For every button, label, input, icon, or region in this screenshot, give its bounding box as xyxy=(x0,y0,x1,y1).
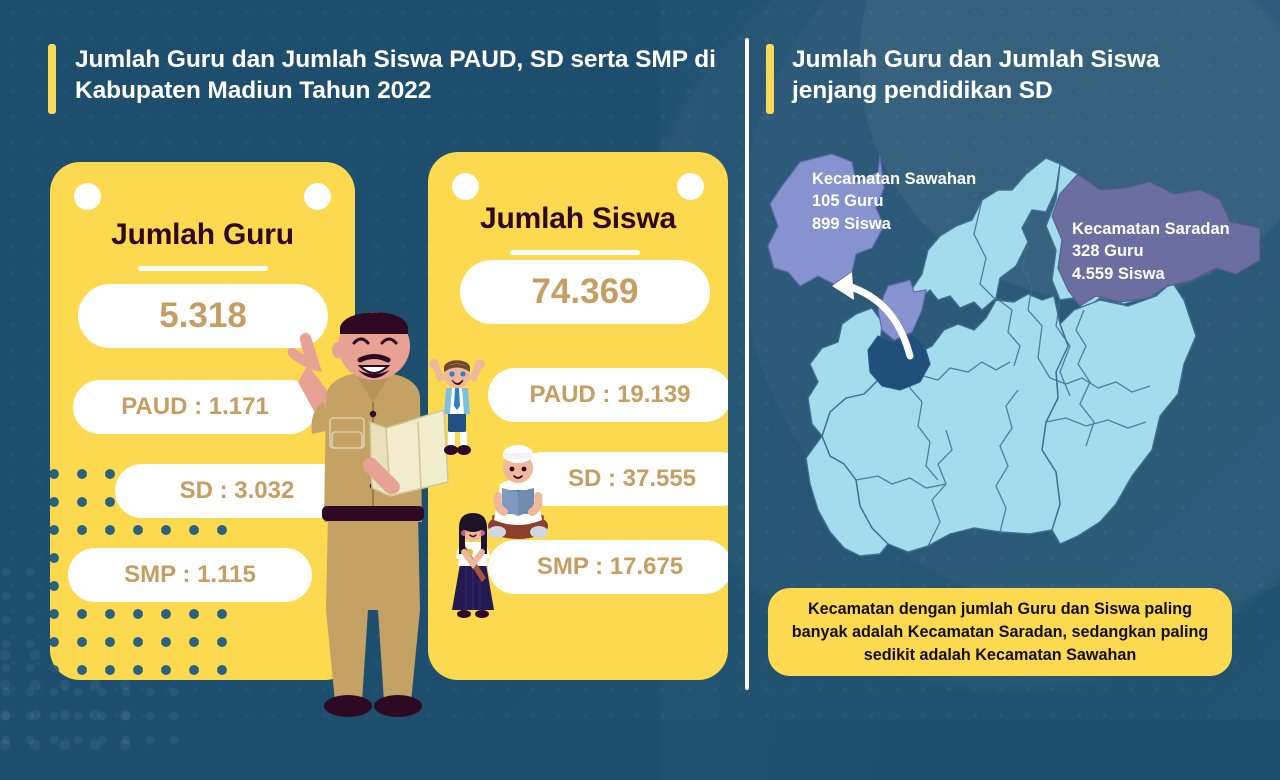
right-panel-title-text: Jumlah Guru dan Jumlah Siswa jenjang pen… xyxy=(792,44,1236,107)
card-siswa-item-smp: SMP : 17.675 xyxy=(488,540,728,594)
student-smp-illustration xyxy=(444,512,502,620)
map-label-saradan-students: 4.559 Siswa xyxy=(1072,263,1230,285)
map-label-sawahan-students: 899 Siswa xyxy=(812,213,976,235)
map-label-saradan-teachers: 328 Guru xyxy=(1072,240,1230,262)
card-hole-left-icon xyxy=(74,183,101,210)
card-guru-title: Jumlah Guru xyxy=(50,218,355,252)
card-siswa-underline xyxy=(510,250,640,255)
map-label-sawahan: Kecamatan Sawahan 105 Guru 899 Siswa xyxy=(812,168,976,235)
card-siswa-total-value: 74.369 xyxy=(460,260,710,324)
student-paud-illustration xyxy=(428,358,486,456)
map-label-saradan: Kecamatan Saradan 328 Guru 4.559 Siswa xyxy=(1072,218,1230,285)
map-arrow-sawahan-icon xyxy=(790,230,930,360)
panel-divider xyxy=(745,38,749,690)
card-hole-right-icon xyxy=(304,183,331,210)
card-hole-right-icon xyxy=(677,173,704,200)
card-siswa-item-paud: PAUD : 19.139 xyxy=(488,368,728,422)
left-panel-title-text: Jumlah Guru dan Jumlah Siswa PAUD, SD se… xyxy=(75,44,728,107)
map-kabupaten-madiun: Kecamatan Sawahan 105 Guru 899 Siswa Kec… xyxy=(760,150,1260,570)
map-label-sawahan-teachers: 105 Guru xyxy=(812,190,976,212)
title-accent-bar xyxy=(766,44,774,114)
card-siswa-title: Jumlah Siswa xyxy=(428,202,728,236)
map-summary-note: Kecamatan dengan jumlah Guru dan Siswa p… xyxy=(768,588,1232,676)
card-hole-left-icon xyxy=(452,173,479,200)
right-panel-title: Jumlah Guru dan Jumlah Siswa jenjang pen… xyxy=(766,44,1236,114)
left-panel-title: Jumlah Guru dan Jumlah Siswa PAUD, SD se… xyxy=(48,44,728,114)
title-accent-bar xyxy=(48,44,56,114)
map-summary-note-text: Kecamatan dengan jumlah Guru dan Siswa p… xyxy=(782,598,1218,667)
map-label-sawahan-name: Kecamatan Sawahan xyxy=(812,168,976,190)
card-guru-underline xyxy=(138,266,268,271)
map-label-saradan-name: Kecamatan Saradan xyxy=(1072,218,1230,240)
